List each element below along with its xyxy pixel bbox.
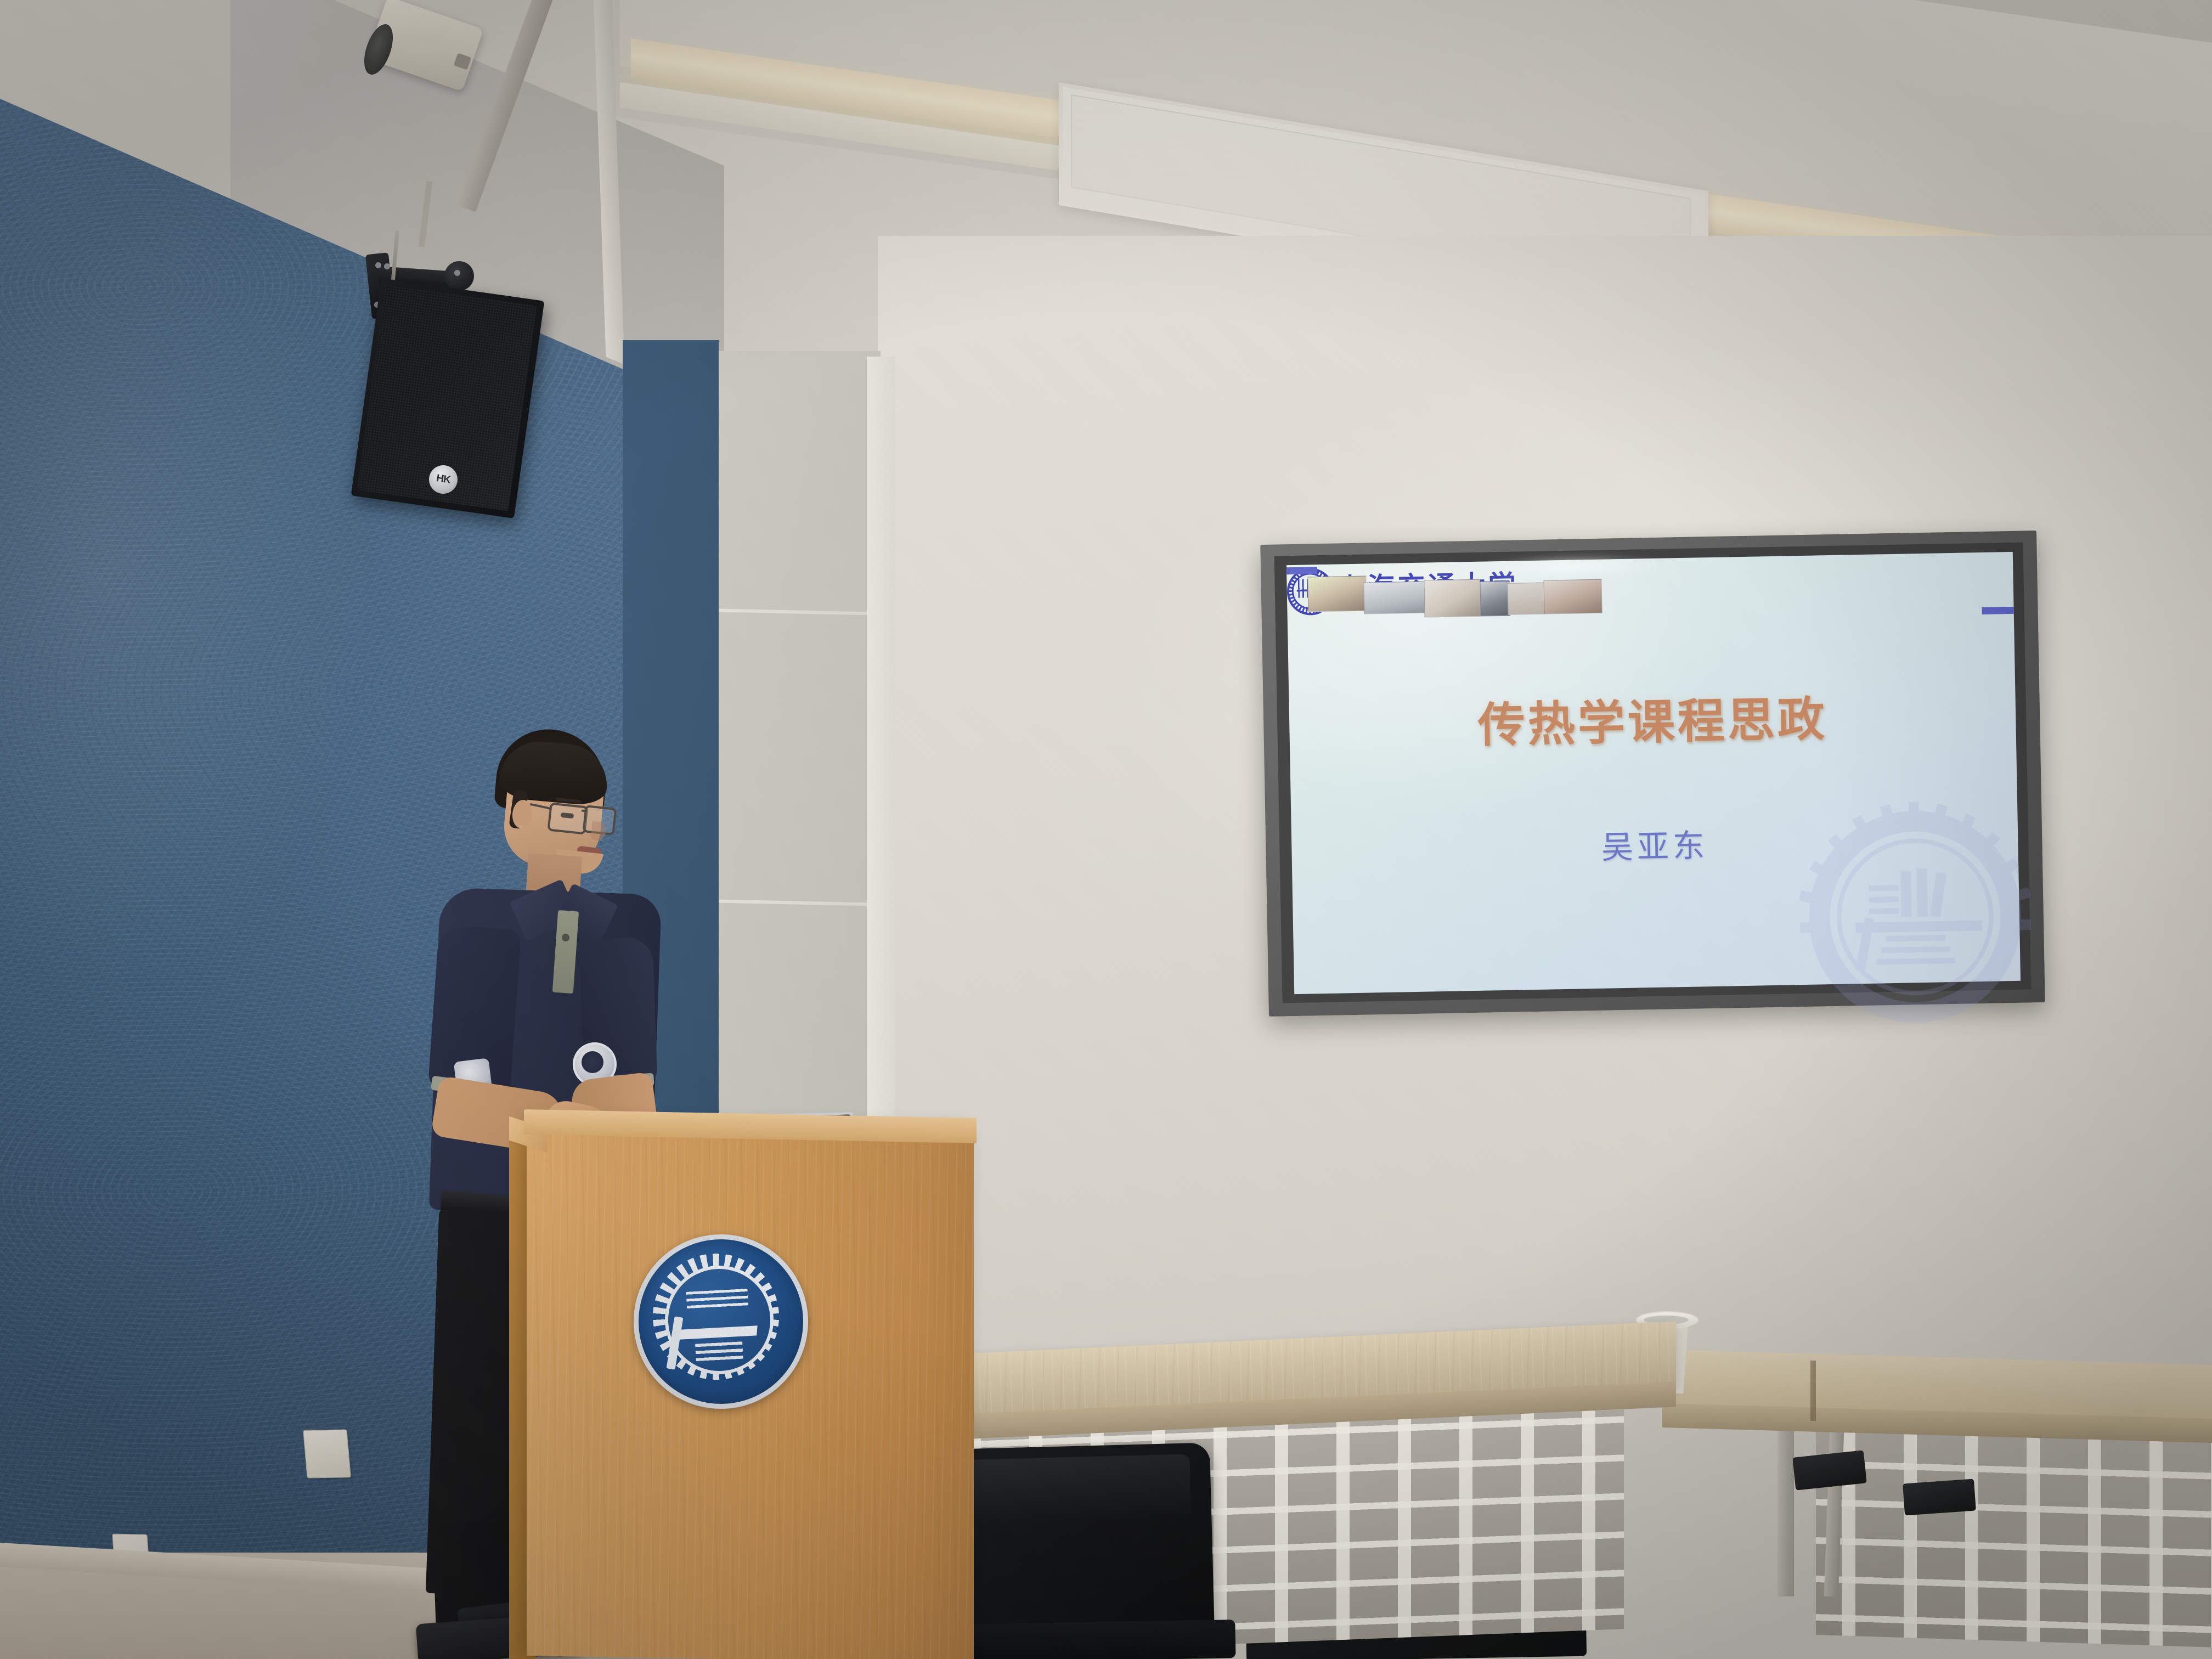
campus-photo-strip xyxy=(1288,610,1601,679)
desk-seam xyxy=(1810,1361,1816,1421)
chest-badge-center xyxy=(582,1051,603,1073)
lecture-hall-photo: HK 上海交通大学 Shanghai Jiao Tong University … xyxy=(0,0,2212,1659)
campus-thumbnail-5 xyxy=(1508,583,1548,615)
podium-seal-books-icon xyxy=(686,1285,749,1327)
desk-bracket-2 xyxy=(1903,1479,1976,1516)
bracket-screw-icon-5 xyxy=(454,270,460,276)
accent-bar-right xyxy=(1982,607,2014,614)
campus-thumbnail-2 xyxy=(1364,582,1427,614)
campus-thumbnail-4 xyxy=(1480,581,1510,617)
presentation-slide: 上海交通大学 Shanghai Jiao Tong University 传热学… xyxy=(1286,552,2021,994)
sjtu-watermark-gear-icon xyxy=(1798,799,2033,1034)
campus-thumbnail-6 xyxy=(1544,579,1602,614)
bracket-screw-icon xyxy=(375,262,381,268)
bracket-screw-icon-2 xyxy=(384,263,390,269)
campus-thumbnail-1 xyxy=(1307,576,1367,612)
podium-seal-base-icon xyxy=(695,1339,743,1366)
modesty-panel-right xyxy=(1816,1426,2212,1647)
campus-thumbnail-3 xyxy=(1424,579,1480,618)
accent-bar-left xyxy=(1286,567,1317,574)
shirt-button-icon xyxy=(562,934,569,941)
wall-socket-plate[interactable] xyxy=(303,1429,351,1478)
glasses-icon xyxy=(547,802,588,834)
slide-title: 传热学课程思政 xyxy=(1289,677,2016,759)
presenter-nose xyxy=(590,821,606,842)
screen-glare xyxy=(1481,554,1663,580)
desk-leg-right-1 xyxy=(1778,1410,1794,1596)
